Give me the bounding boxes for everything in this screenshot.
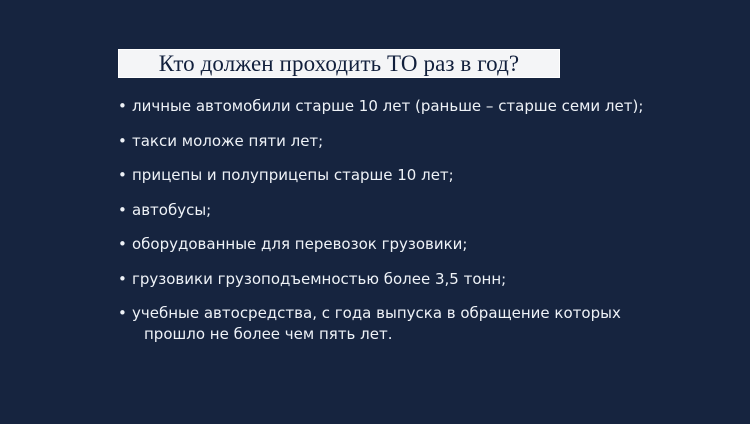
list-item-label: грузовики грузоподъемностью более 3,5 то… [132,270,506,288]
list-item: • личные автомобили старше 10 лет (раньш… [118,96,718,117]
list-item-label-continued: прошло не более чем пять лет. [132,324,692,345]
bullet-icon: • [118,131,127,152]
list-item-label: учебные автосредства, с года выпуска в о… [132,304,621,322]
bullet-icon: • [118,165,127,186]
bullet-icon: • [118,269,127,290]
list-item-label: прицепы и полуприцепы старше 10 лет; [132,166,454,184]
bullet-icon: • [118,96,127,117]
list-item: • прицепы и полуприцепы старше 10 лет; [118,165,718,186]
bullet-icon: • [118,234,127,255]
list-item: • такси моложе пяти лет; [118,131,718,152]
requirements-list: • личные автомобили старше 10 лет (раньш… [118,96,718,359]
list-item: • учебные автосредства, с года выпуска в… [118,303,692,345]
bullet-icon: • [118,303,127,324]
slide-canvas: Кто должен проходить ТО раз в год? • лич… [0,0,750,424]
bullet-icon: • [118,200,127,221]
list-item: • автобусы; [118,200,718,221]
list-item-label: автобусы; [132,201,211,219]
list-item-label: личные автомобили старше 10 лет (раньше … [132,97,643,115]
page-title: Кто должен проходить ТО раз в год? [159,52,519,75]
list-item: • оборудованные для перевозок грузовики; [118,234,718,255]
list-item: • грузовики грузоподъемностью более 3,5 … [118,269,718,290]
list-item-label: такси моложе пяти лет; [132,132,323,150]
title-box: Кто должен проходить ТО раз в год? [118,49,560,78]
list-item-label: оборудованные для перевозок грузовики; [132,235,467,253]
